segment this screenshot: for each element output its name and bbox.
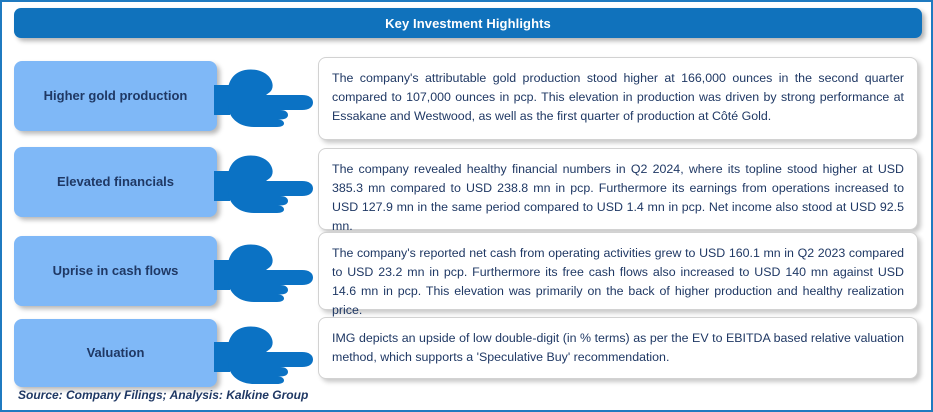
slide-canvas: Key Investment Highlights Higher gold pr… <box>0 0 933 412</box>
highlight-text-panel: The company's attributable gold producti… <box>318 57 918 140</box>
highlight-row: Uprise in cash flows The company's repor… <box>2 232 933 315</box>
highlight-body-text: The company's reported net cash from ope… <box>332 244 904 319</box>
pointing-hand-right-icon <box>214 63 322 135</box>
header-banner: Key Investment Highlights <box>14 8 922 38</box>
highlight-text-panel: The company's reported net cash from ope… <box>318 232 918 310</box>
highlight-label-text: Elevated financials <box>57 174 174 190</box>
highlight-label-box[interactable]: Elevated financials <box>14 147 217 217</box>
highlight-label-box[interactable]: Uprise in cash flows <box>14 236 217 306</box>
highlight-label-box[interactable]: Higher gold production <box>14 61 217 131</box>
highlight-body-text: The company's attributable gold producti… <box>332 69 904 126</box>
source-note: Source: Company Filings; Analysis: Kalki… <box>18 388 308 402</box>
highlight-label-text: Higher gold production <box>44 88 188 104</box>
pointing-hand-right-icon <box>214 238 322 310</box>
highlight-row: Higher gold production The company's att… <box>2 57 933 141</box>
highlight-text-panel: The company revealed healthy financial n… <box>318 148 918 230</box>
page-title: Key Investment Highlights <box>385 16 551 31</box>
highlight-row: Valuation IMG depicts an upside of low d… <box>2 317 933 383</box>
highlight-body-text: IMG depicts an upside of low double-digi… <box>332 329 904 367</box>
highlight-text-panel: IMG depicts an upside of low double-digi… <box>318 317 918 379</box>
pointing-hand-right-icon <box>214 320 322 392</box>
pointing-hand-right-icon <box>214 149 322 221</box>
highlight-body-text: The company revealed healthy financial n… <box>332 160 904 235</box>
highlight-label-text: Uprise in cash flows <box>53 263 179 279</box>
highlight-row: Elevated financials The company revealed… <box>2 143 933 230</box>
highlight-label-text: Valuation <box>87 345 145 361</box>
highlight-label-box[interactable]: Valuation <box>14 319 217 387</box>
